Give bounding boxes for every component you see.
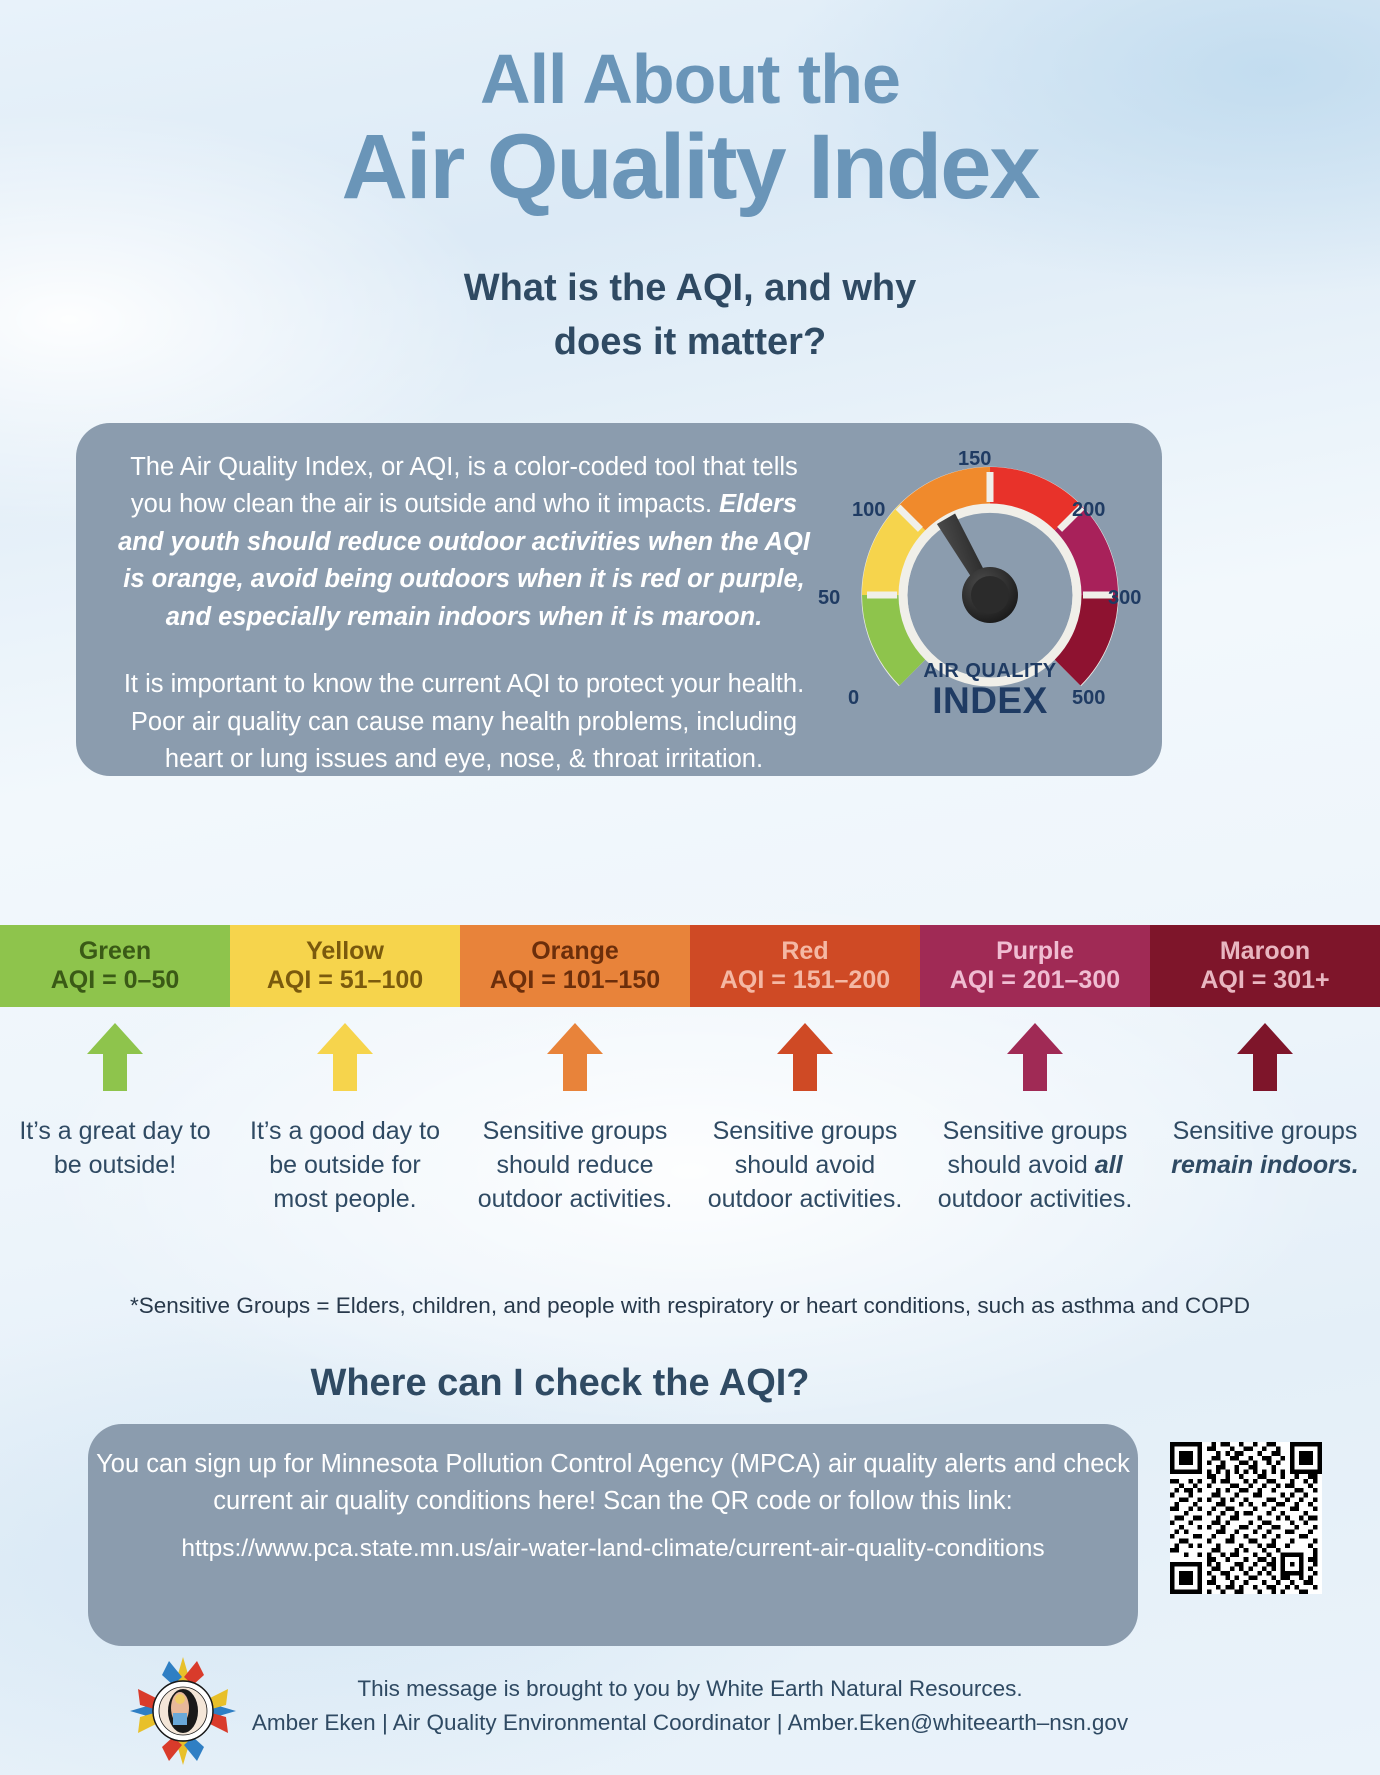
band-range-red: AQI = 151–200 bbox=[720, 966, 890, 996]
band-cell-yellow: Yellow AQI = 51–100 bbox=[230, 925, 460, 1007]
poster-title: All About the Air Quality Index bbox=[0, 0, 1380, 216]
up-arrow-icon-yellow bbox=[315, 1021, 375, 1093]
band-cell-purple: Purple AQI = 201–300 bbox=[920, 925, 1150, 1007]
footer-line-1: This message is brought to you by White … bbox=[0, 1672, 1380, 1706]
advice-column-purple: Sensitive groups should avoid all outdoo… bbox=[920, 1007, 1150, 1216]
band-cell-green: Green AQI = 0–50 bbox=[0, 925, 230, 1007]
advice-caption-green: It’s a great day to be outside! bbox=[17, 1115, 213, 1183]
poster-footer: This message is brought to you by White … bbox=[0, 1672, 1380, 1740]
up-arrow-icon-orange bbox=[545, 1021, 605, 1093]
band-range-maroon: AQI = 301+ bbox=[1200, 966, 1329, 996]
advice-columns: It’s a great day to be outside! It’s a g… bbox=[0, 1007, 1380, 1216]
gauge-tick-50: 50 bbox=[818, 587, 840, 610]
up-arrow-icon-purple bbox=[1005, 1021, 1065, 1093]
band-cell-orange: Orange AQI = 101–150 bbox=[460, 925, 690, 1007]
mpca-signup-body: You can sign up for Minnesota Pollution … bbox=[88, 1446, 1138, 1521]
info-paragraph-1: The Air Quality Index, or AQI, is a colo… bbox=[110, 449, 818, 636]
gauge-tick-100: 100 bbox=[852, 499, 885, 522]
subheading-line-2: does it matter? bbox=[0, 316, 1380, 370]
aqi-info-text: The Air Quality Index, or AQI, is a colo… bbox=[76, 423, 836, 776]
band-name-purple: Purple bbox=[996, 937, 1074, 967]
advice-caption-maroon: Sensitive groups remain indoors. bbox=[1167, 1115, 1363, 1183]
band-range-purple: AQI = 201–300 bbox=[950, 966, 1120, 996]
footer-line-2: Amber Eken | Air Quality Environmental C… bbox=[0, 1706, 1380, 1740]
up-arrow-icon-red bbox=[775, 1021, 835, 1093]
qr-code-icon[interactable] bbox=[1170, 1442, 1322, 1594]
band-name-maroon: Maroon bbox=[1220, 937, 1310, 967]
gauge-tick-0: 0 bbox=[848, 687, 859, 710]
advice-caption-maroon-emphasis: remain indoors. bbox=[1171, 1151, 1359, 1179]
band-range-orange: AQI = 101–150 bbox=[490, 966, 660, 996]
advice-column-orange: Sensitive groups should reduce outdoor a… bbox=[460, 1007, 690, 1216]
aqi-color-band: Green AQI = 0–50 Yellow AQI = 51–100 Ora… bbox=[0, 925, 1380, 1007]
advice-caption-orange: Sensitive groups should reduce outdoor a… bbox=[477, 1115, 673, 1216]
subheading: What is the AQI, and why does it matter? bbox=[0, 262, 1380, 370]
advice-caption-purple-emphasis: all bbox=[1095, 1151, 1123, 1179]
where-check-heading: Where can I check the AQI? bbox=[0, 1362, 1120, 1405]
advice-column-maroon: Sensitive groups remain indoors. bbox=[1150, 1007, 1380, 1216]
title-line-1: All About the bbox=[0, 44, 1380, 115]
advice-column-red: Sensitive groups should avoid outdoor ac… bbox=[690, 1007, 920, 1216]
band-cell-maroon: Maroon AQI = 301+ bbox=[1150, 925, 1380, 1007]
mpca-link[interactable]: https://www.pca.state.mn.us/air-water-la… bbox=[88, 1531, 1138, 1567]
advice-caption-red: Sensitive groups should avoid outdoor ac… bbox=[707, 1115, 903, 1216]
advice-caption-purple-after: outdoor activities. bbox=[938, 1185, 1133, 1213]
band-range-yellow: AQI = 51–100 bbox=[267, 966, 423, 996]
gauge-tick-200: 200 bbox=[1072, 499, 1105, 522]
band-name-orange: Orange bbox=[531, 937, 619, 967]
advice-caption-purple: Sensitive groups should avoid all outdoo… bbox=[937, 1115, 1133, 1216]
gauge-tick-300: 300 bbox=[1108, 587, 1141, 610]
info-paragraph-1-plain: The Air Quality Index, or AQI, is a colo… bbox=[130, 453, 798, 518]
gauge-tick-150: 150 bbox=[958, 448, 991, 471]
advice-column-green: It’s a great day to be outside! bbox=[0, 1007, 230, 1216]
band-cell-red: Red AQI = 151–200 bbox=[690, 925, 920, 1007]
advice-caption-yellow: It’s a good day to be outside for most p… bbox=[247, 1115, 443, 1216]
aqi-gauge: 50 100 150 200 300 500 0 AIR QUALITY IND… bbox=[840, 445, 1140, 745]
mpca-signup-card: You can sign up for Minnesota Pollution … bbox=[88, 1424, 1138, 1646]
info-paragraph-2: It is important to know the current AQI … bbox=[110, 666, 818, 778]
advice-column-yellow: It’s a good day to be outside for most p… bbox=[230, 1007, 460, 1216]
band-name-red: Red bbox=[781, 937, 828, 967]
poster-page: All About the Air Quality Index What is … bbox=[0, 0, 1380, 1775]
title-line-2: Air Quality Index bbox=[0, 119, 1380, 216]
aqi-info-card: The Air Quality Index, or AQI, is a colo… bbox=[76, 423, 1162, 776]
advice-caption-maroon-before: Sensitive groups bbox=[1173, 1117, 1358, 1145]
sensitive-groups-footnote: *Sensitive Groups = Elders, children, an… bbox=[0, 1293, 1380, 1319]
band-name-yellow: Yellow bbox=[306, 937, 384, 967]
gauge-tick-500: 500 bbox=[1072, 687, 1105, 710]
up-arrow-icon-maroon bbox=[1235, 1021, 1295, 1093]
up-arrow-icon-green bbox=[85, 1021, 145, 1093]
subheading-line-1: What is the AQI, and why bbox=[464, 267, 917, 309]
band-range-green: AQI = 0–50 bbox=[51, 966, 180, 996]
band-name-green: Green bbox=[79, 937, 151, 967]
